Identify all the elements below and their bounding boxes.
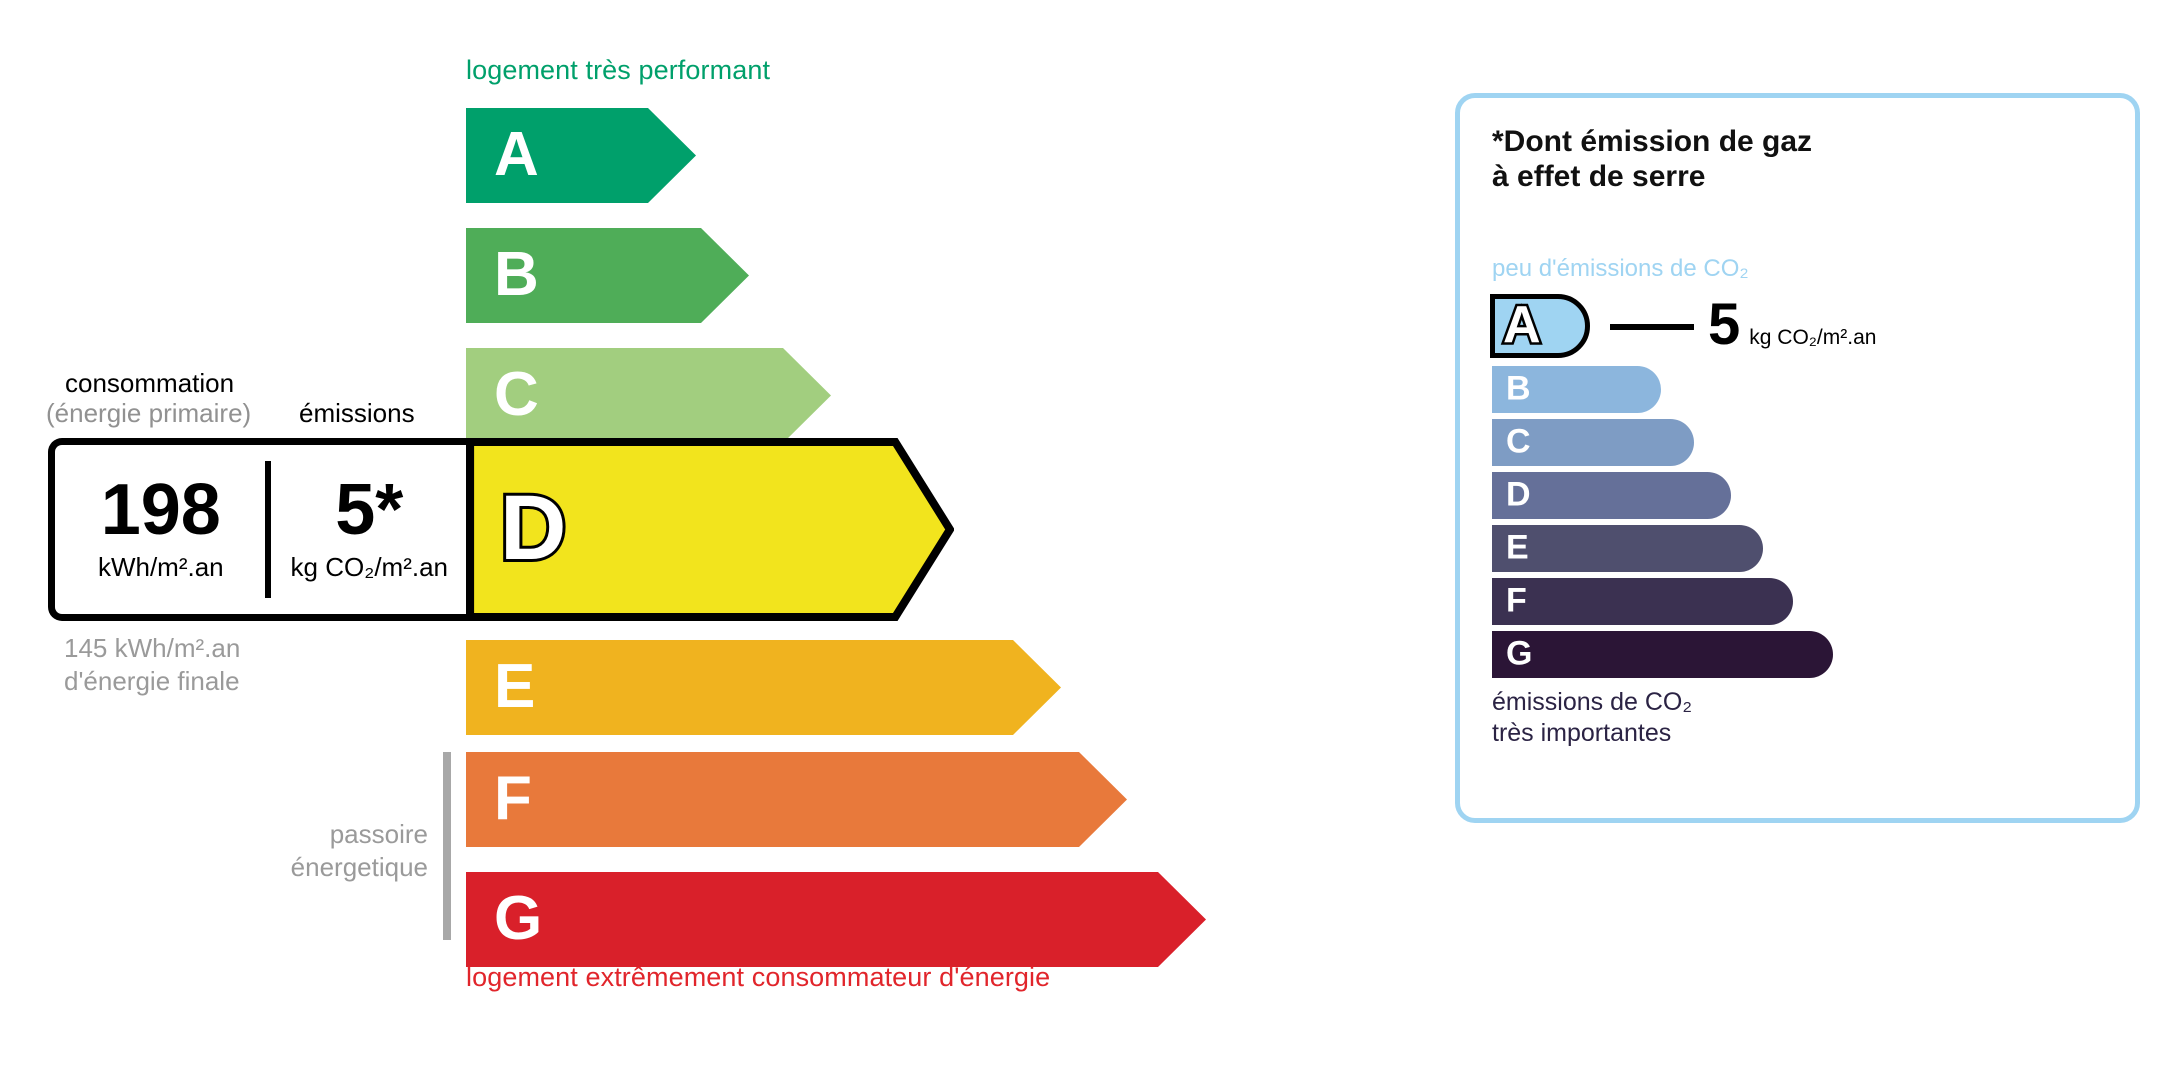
energy-band-shape-g (466, 872, 1206, 967)
energy-band-letter-g: G (494, 887, 542, 949)
energy-band-arrow-f: F (466, 752, 1127, 847)
consumption-value: 198 (101, 476, 221, 545)
co2-band-bar-g: G (1492, 631, 1833, 678)
consumption-cell: 198 kWh/m².an (55, 445, 267, 614)
energy-band-letter-a: A (494, 123, 539, 185)
co2-band-f: F (1492, 578, 1793, 625)
passoire-label-line1: passoire (190, 818, 428, 851)
co2-leader-line (1610, 324, 1694, 330)
co2-band-c: C (1492, 419, 1694, 466)
co2-band-letter-d: D (1506, 477, 1531, 511)
energy-band-arrow-a: A (466, 108, 696, 203)
energy-band-letter-b: B (494, 243, 539, 305)
value-box: 198 kWh/m².an 5* kg CO₂/m².an (48, 438, 472, 621)
energy-band-letter-c: C (494, 363, 539, 425)
energy-band-g: G (466, 872, 1206, 967)
energy-consumption-chart: logement très performant consommation (é… (0, 0, 1400, 1079)
co2-band-a-highlight: A (1490, 294, 1590, 358)
final-energy-value: 145 kWh/m².an (64, 632, 240, 665)
energy-bottom-caption: logement extrêmement consommateur d'éner… (466, 962, 1050, 993)
co2-band-letter-g: G (1506, 636, 1532, 670)
passoire-label-line2: énergetique (190, 851, 428, 884)
co2-bottom-caption-line1: émissions de CO₂ (1492, 687, 1692, 718)
label-emissions: émissions (299, 398, 415, 429)
energy-band-arrow-d: D (466, 438, 954, 621)
co2-band-d: D (1492, 472, 1731, 519)
co2-title-line2: à effet de serre (1492, 159, 1812, 194)
passoire-marker-bar (443, 752, 451, 940)
co2-band-letter-e: E (1506, 530, 1529, 564)
dpe-diagram: logement très performant consommation (é… (0, 0, 2169, 1079)
co2-band-bar-c: C (1492, 419, 1694, 466)
co2-value-unit: kg CO₂/m².an (1749, 326, 1876, 350)
label-energie-primaire: (énergie primaire) (46, 398, 251, 429)
energy-band-shape-f (466, 752, 1127, 847)
energy-band-letter-f: F (494, 767, 532, 829)
co2-emissions-panel: *Dont émission de gaz à effet de serre p… (1455, 93, 2140, 823)
energy-band-c: C (466, 348, 831, 443)
co2-band-e: E (1492, 525, 1763, 572)
final-energy-label: d'énergie finale (64, 665, 240, 698)
co2-value-readout: 5 kg CO₂/m².an (1708, 296, 1876, 354)
emission-cell: 5* kg CO₂/m².an (267, 445, 472, 614)
energy-band-a: A (466, 108, 696, 203)
co2-band-bar-d: D (1492, 472, 1731, 519)
co2-bottom-caption: émissions de CO₂ très importantes (1492, 687, 1692, 748)
energy-band-shape-e (466, 640, 1061, 735)
emission-unit: kg CO₂/m².an (291, 552, 448, 583)
energy-band-arrow-g: G (466, 872, 1206, 967)
energy-band-e: E (466, 640, 1061, 735)
energy-top-caption: logement très performant (466, 55, 770, 86)
co2-highlight-letter: A (1503, 299, 1541, 351)
co2-band-letter-b: B (1506, 371, 1531, 405)
co2-title-line1: *Dont émission de gaz (1492, 124, 1812, 159)
passoire-label: passoire énergetique (190, 818, 428, 883)
co2-band-bar-e: E (1492, 525, 1763, 572)
co2-band-bar-f: F (1492, 578, 1793, 625)
co2-highlight-pill: A (1490, 294, 1590, 358)
co2-band-g: G (1492, 631, 1833, 678)
energy-band-arrow-c: C (466, 348, 831, 443)
co2-band-bar-b: B (1492, 366, 1661, 413)
energy-band-letter-e: E (494, 655, 535, 717)
co2-band-b: B (1492, 366, 1661, 413)
co2-value-number: 5 (1708, 296, 1740, 354)
co2-band-letter-c: C (1506, 424, 1531, 458)
co2-bottom-caption-line2: très importantes (1492, 718, 1692, 749)
final-energy-note: 145 kWh/m².an d'énergie finale (64, 632, 240, 697)
energy-band-f: F (466, 752, 1127, 847)
energy-band-d: D (466, 438, 954, 621)
co2-panel-title: *Dont émission de gaz à effet de serre (1492, 124, 1812, 195)
co2-band-letter-f: F (1506, 583, 1527, 617)
energy-band-arrow-e: E (466, 640, 1061, 735)
emission-value: 5* (335, 476, 403, 545)
consumption-unit: kWh/m².an (98, 552, 224, 583)
label-consommation: consommation (65, 368, 234, 399)
energy-band-arrow-b: B (466, 228, 749, 323)
energy-band-letter-d: D (500, 482, 566, 574)
energy-band-b: B (466, 228, 749, 323)
co2-top-caption: peu d'émissions de CO₂ (1492, 255, 1749, 283)
